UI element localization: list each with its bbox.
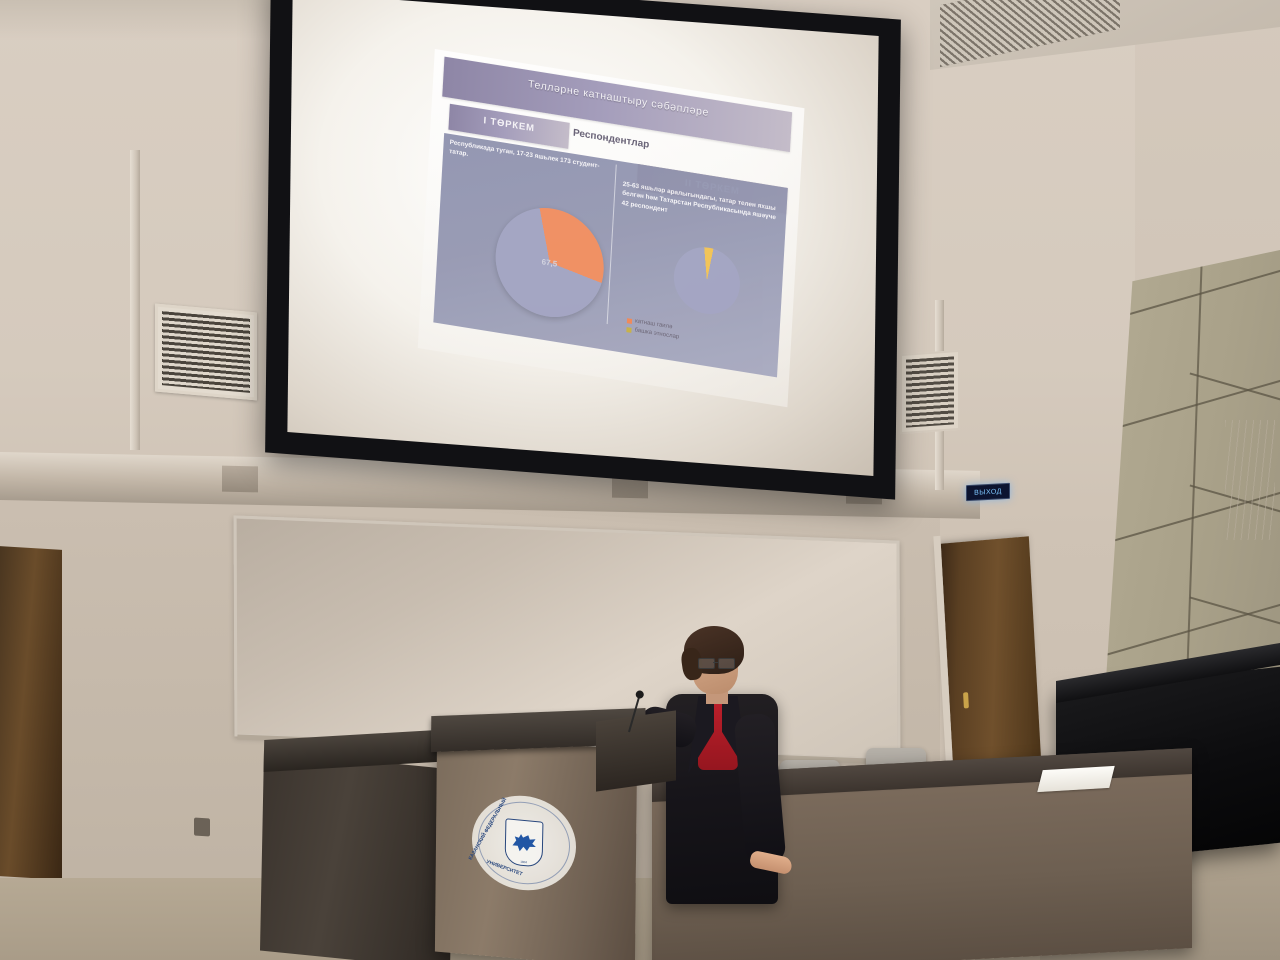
lectern-secondary bbox=[260, 751, 454, 960]
lectern-shelf bbox=[596, 710, 676, 791]
screen-surface: Телләрне катнаштыру сәбәпләре Респондент… bbox=[287, 0, 878, 476]
ledge-bracket-left bbox=[222, 466, 258, 493]
glasses-icon bbox=[698, 658, 736, 667]
pie-chart-group2 bbox=[672, 242, 742, 318]
projection-screen: Телләрне катнаштыру сәбәпләре Респондент… bbox=[265, 0, 901, 500]
wall-trim-strip-left bbox=[130, 150, 140, 450]
air-vent-right bbox=[900, 350, 960, 434]
chart-area: Республикада туган, 17-23 яшьлек 173 сту… bbox=[433, 133, 787, 377]
paper-sheet bbox=[1037, 766, 1115, 792]
cable-bundle bbox=[1225, 420, 1275, 540]
door-handle-icon[interactable] bbox=[963, 692, 969, 708]
air-vent-left bbox=[155, 304, 257, 401]
group1-description: Республикада туган, 17-23 яшьлек 173 сту… bbox=[449, 138, 610, 182]
chart-divider bbox=[607, 164, 617, 324]
door-left[interactable] bbox=[0, 546, 62, 880]
legend-swatch-orange bbox=[627, 318, 632, 324]
lecture-hall-photo: Телләрне катнаштыру сәбәпләре Респондент… bbox=[0, 0, 1280, 960]
kfu-logo: КАЗАНСКИЙ ФЕДЕРАЛЬНЫЙ УНИВЕРСИТЕТ 1804 bbox=[471, 791, 577, 894]
exit-sign: ВЫХОД bbox=[966, 483, 1010, 501]
logo-year: 1804 bbox=[520, 860, 527, 865]
legend-swatch-yellow bbox=[626, 327, 631, 333]
group2-description: 25-63 яшьләр аралыгындагы, татар телен я… bbox=[621, 180, 780, 233]
presentation-slide: Телләрне катнаштыру сәбәпләре Респондент… bbox=[418, 49, 805, 407]
wall-shadow-top bbox=[0, 0, 280, 40]
wall-outlet bbox=[194, 817, 210, 836]
zilant-dragon-icon bbox=[511, 830, 537, 856]
logo-shield: 1804 bbox=[505, 818, 544, 867]
